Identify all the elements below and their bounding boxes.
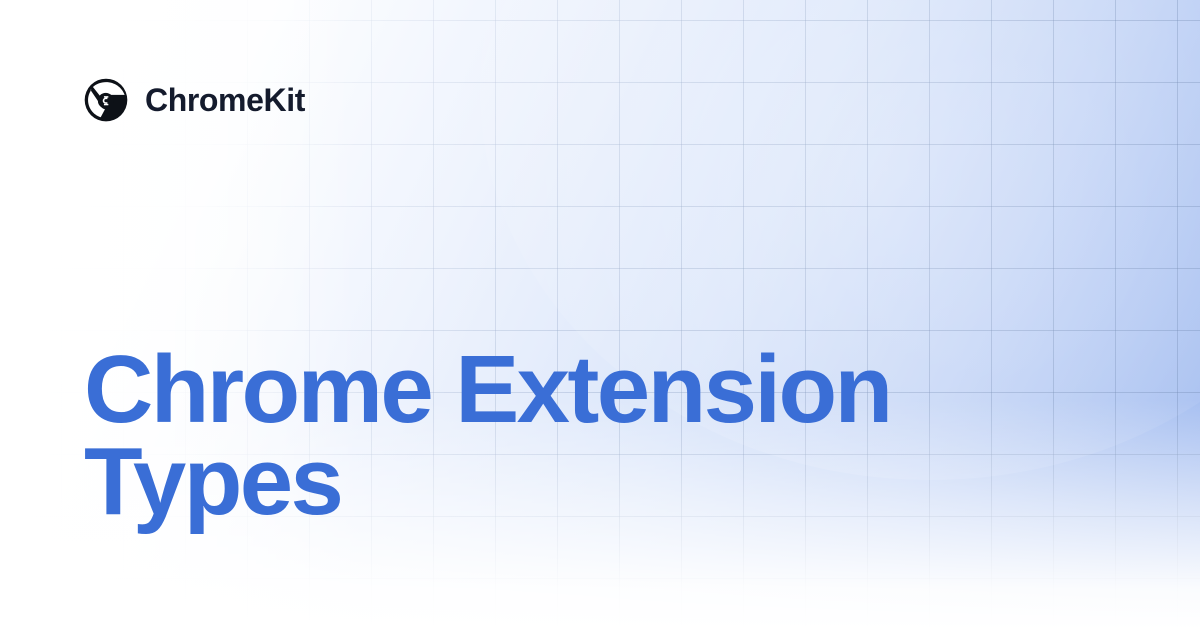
chrome-logo-icon — [84, 78, 128, 122]
brand-name: ChromeKit — [145, 84, 305, 116]
brand-lockup: ChromeKit — [84, 78, 305, 122]
page-title: Chrome Extension Types — [84, 344, 964, 528]
social-banner: ChromeKit Chrome Extension Types — [0, 0, 1200, 630]
